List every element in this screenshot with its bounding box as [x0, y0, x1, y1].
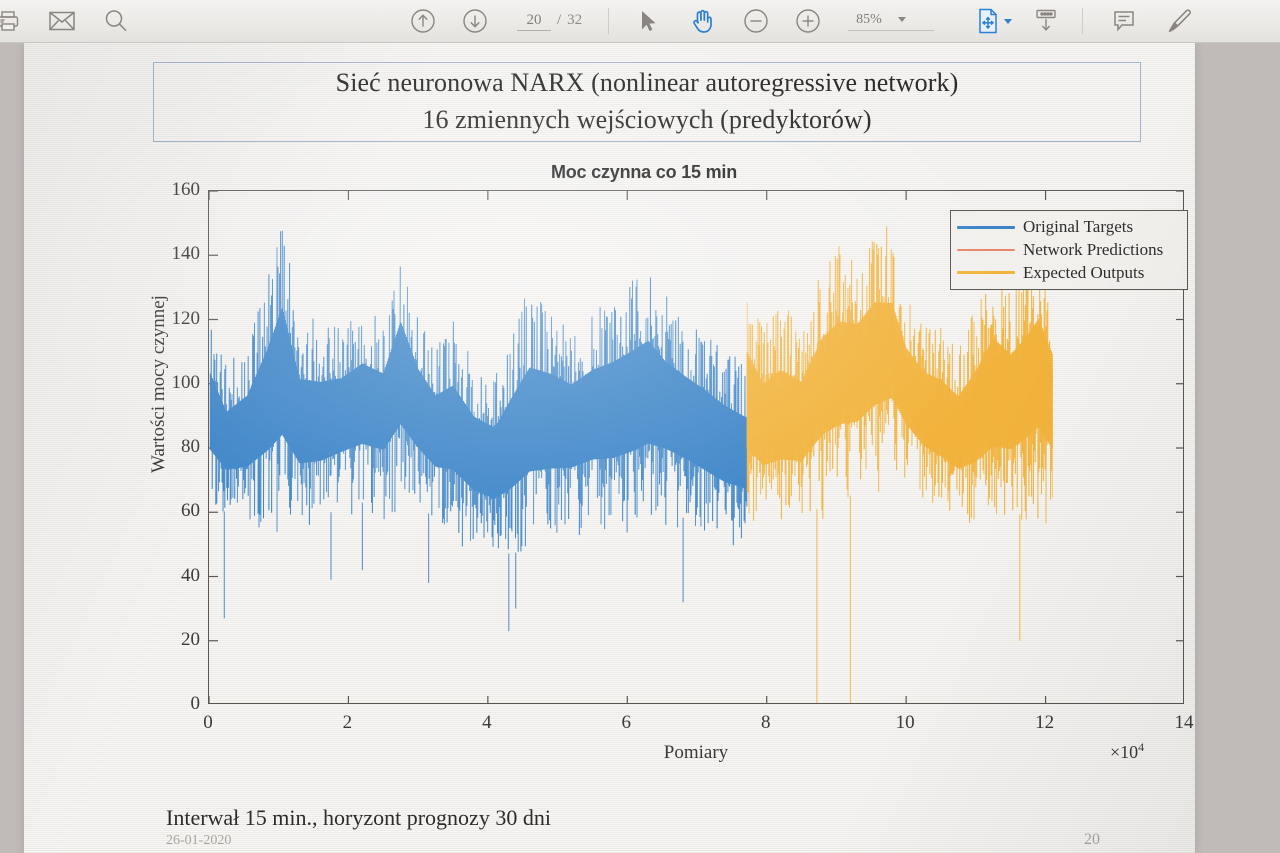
chevron-down-icon	[898, 17, 906, 22]
toolbar-left-group	[0, 1, 136, 41]
exponent-base: ×10	[1110, 742, 1138, 762]
legend-label: Network Predictions	[1023, 240, 1163, 260]
chart-figure: Moc czynna co 15 min Wartości mocy czynn…	[124, 148, 1195, 803]
x-tick-label: 8	[761, 712, 771, 734]
x-tick-label: 10	[896, 712, 915, 734]
toolbar-center-group: 20 / 32	[403, 1, 934, 41]
slide-title-box: Sieć neuronowa NARX (nonlinear autoregre…	[153, 62, 1141, 142]
x-tick-label: 4	[482, 712, 492, 734]
x-tick-label: 6	[622, 712, 632, 734]
toolbar-divider-2	[1082, 8, 1083, 34]
toolbar-right-group	[968, 1, 1200, 41]
hand-icon[interactable]	[682, 1, 722, 41]
search-icon[interactable]	[96, 1, 136, 41]
legend-color-swatch	[957, 249, 1015, 252]
exponent-power: 4	[1138, 740, 1144, 754]
series-expected-outputs	[747, 227, 1052, 705]
page-indicator: 20 / 32	[517, 12, 582, 31]
zoom-level-select[interactable]: 85%	[848, 12, 934, 31]
y-tick-label: 60	[154, 500, 200, 522]
chart-x-axis-label: Pomiary	[208, 742, 1184, 764]
pdf-toolbar: 20 / 32	[0, 0, 1280, 43]
legend-label: Original Targets	[1023, 217, 1133, 237]
legend-item: Network Predictions	[957, 239, 1179, 262]
chart-x-axis-exponent: ×104	[1110, 740, 1144, 763]
x-tick-label: 0	[203, 712, 213, 734]
y-tick-label: 160	[154, 179, 200, 201]
plus-circle-icon[interactable]	[788, 1, 828, 41]
fit-page-icon[interactable]	[968, 1, 1008, 41]
y-tick-label: 120	[154, 308, 200, 330]
arrow-up-circle-icon[interactable]	[403, 1, 443, 41]
slide-title-line2: 16 zmiennych wejściowych (predyktorów)	[422, 102, 871, 139]
legend-item: Expected Outputs	[957, 261, 1179, 284]
chart-y-tick-labels: 020406080100120140160	[148, 190, 200, 704]
slide-footer-page-number: 20	[1084, 831, 1100, 849]
legend-label: Expected Outputs	[1023, 263, 1144, 283]
slide-footer-date: 26-01-2020	[166, 833, 231, 849]
page-number-input[interactable]: 20	[517, 12, 551, 31]
slide-page: Sieć neuronowa NARX (nonlinear autoregre…	[24, 43, 1195, 853]
y-tick-label: 20	[154, 629, 200, 651]
cursor-arrow-icon[interactable]	[628, 1, 668, 41]
print-icon[interactable]	[0, 1, 28, 41]
y-tick-label: 40	[154, 565, 200, 587]
toolbar-divider-1	[608, 8, 609, 34]
page-total: 32	[567, 12, 582, 29]
arrow-down-circle-icon[interactable]	[455, 1, 495, 41]
chart-legend: Original TargetsNetwork PredictionsExpec…	[950, 210, 1188, 290]
slide-footer-note: Interwał 15 min., horyzont prognozy 30 d…	[166, 805, 551, 831]
y-tick-label: 0	[154, 693, 200, 715]
page-separator: /	[557, 12, 561, 29]
comment-bubble-icon[interactable]	[1104, 1, 1144, 41]
mail-icon[interactable]	[42, 1, 82, 41]
y-tick-label: 140	[154, 243, 200, 265]
highlighter-pen-icon[interactable]	[1160, 1, 1200, 41]
slide-title-line1: Sieć neuronowa NARX (nonlinear autoregre…	[336, 65, 959, 102]
legend-color-swatch	[957, 271, 1015, 274]
legend-color-swatch	[957, 226, 1015, 229]
y-tick-label: 80	[154, 436, 200, 458]
legend-item: Original Targets	[957, 216, 1179, 239]
y-tick-label: 100	[154, 372, 200, 394]
x-tick-label: 12	[1035, 712, 1054, 734]
chart-title: Moc czynna co 15 min	[124, 162, 1164, 183]
pdf-document-area[interactable]: Sieć neuronowa NARX (nonlinear autoregre…	[0, 43, 1280, 853]
series-original-targets	[210, 231, 746, 631]
chart-x-tick-labels: 02468101214	[208, 712, 1184, 738]
zoom-level-value: 85%	[856, 12, 882, 28]
scroll-down-icon[interactable]	[1026, 1, 1066, 41]
x-tick-label: 2	[343, 712, 353, 734]
x-tick-label: 14	[1175, 712, 1194, 734]
minus-circle-icon[interactable]	[736, 1, 776, 41]
